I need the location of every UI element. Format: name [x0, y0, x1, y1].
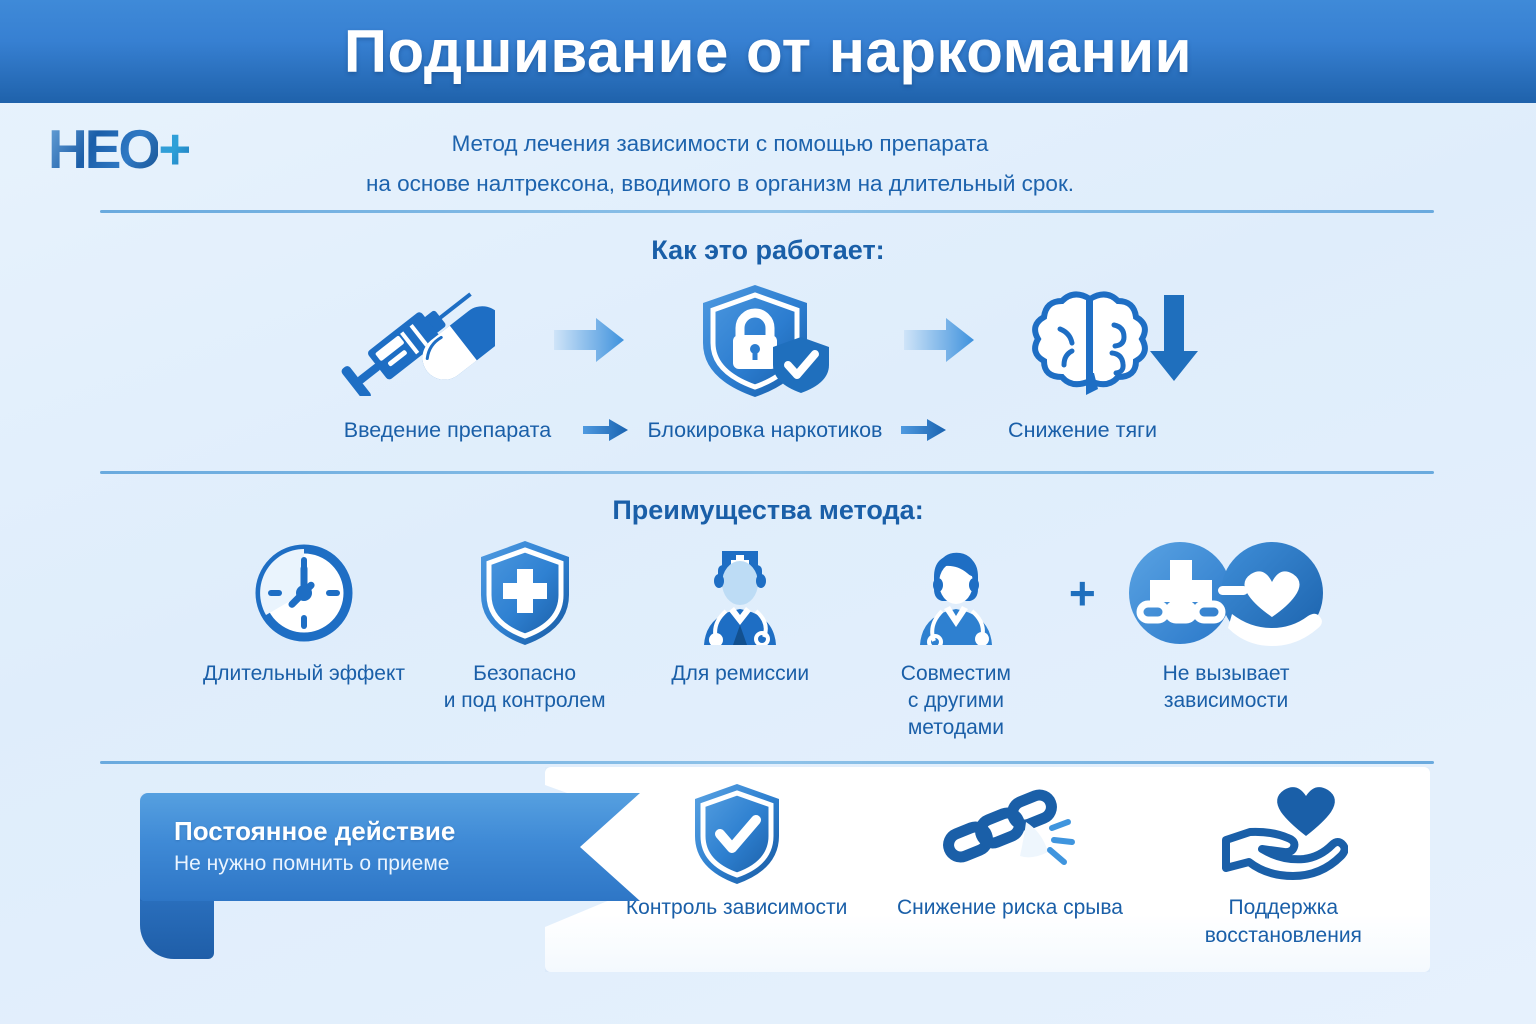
- card-item-2: Снижение риска срыва: [875, 780, 1145, 922]
- benefit-label-5: Не вызывает зависимости: [1102, 660, 1350, 714]
- nurse-icon: [688, 541, 792, 646]
- ribbon-subtitle: Не нужно помнить о приеме: [174, 849, 574, 879]
- how-it-works-icons: [330, 280, 1200, 400]
- divider-1: [100, 210, 1434, 213]
- benefit-item-1: [190, 541, 418, 646]
- logo-text-primary: HEO: [48, 117, 158, 181]
- how-it-works-labels: Введение препарата Блокировка наркотиков…: [330, 410, 1200, 450]
- card-label-3: Поддержка восстановления: [1205, 894, 1362, 950]
- flow-arrow-icon-1: [550, 315, 630, 365]
- ribbon-text-block: Постоянное действие Не нужно помнить о п…: [174, 815, 574, 879]
- infographic-page: Подшивание от наркомании HEO+ Метод лече…: [0, 0, 1536, 1024]
- shield-lock-icon: [680, 280, 850, 400]
- flow-arrow-icon-2: [900, 315, 980, 365]
- step-label-3: Снижение тяги: [965, 418, 1200, 443]
- benefit-item-4: [849, 541, 1062, 646]
- benefit-label-4: Совместим с другими методами: [849, 660, 1062, 741]
- divider-3: [100, 761, 1434, 764]
- page-header: Подшивание от наркомании: [0, 0, 1536, 103]
- card-label-1: Контроль зависимости: [626, 894, 847, 922]
- ribbon-title: Постоянное действие: [174, 815, 574, 847]
- syringe-pill-icon: [330, 280, 500, 400]
- chain-heart-circles-icon: [1118, 541, 1334, 646]
- card-item-1: Контроль зависимости: [602, 780, 872, 922]
- intro-line-2: на основе налтрексона, вводимого в орган…: [290, 164, 1150, 204]
- summary-card-items: Контроль зависимости: [600, 780, 1420, 965]
- plus-sign-text: +: [1069, 570, 1096, 616]
- how-it-works-title: Как это работает:: [0, 235, 1536, 266]
- benefits-title: Преимущества метода:: [0, 495, 1536, 526]
- brain-down-arrow-icon: [1030, 280, 1200, 400]
- card-label-2: Снижение риска срыва: [897, 894, 1123, 922]
- intro-text: Метод лечения зависимости с помощью преп…: [290, 124, 1150, 204]
- ribbon-tail: [140, 897, 214, 959]
- benefit-item-3: [631, 541, 849, 646]
- label-arrow-icon-2: [899, 419, 949, 441]
- shield-cross-icon: [475, 541, 575, 646]
- intro-line-1: Метод лечения зависимости с помощью преп…: [290, 124, 1150, 164]
- clock-icon: [252, 541, 356, 646]
- benefit-label-2: Безопасно и под контролем: [418, 660, 631, 714]
- label-arrow-icon-1: [581, 419, 631, 441]
- doctor-icon: [904, 541, 1008, 646]
- benefits-labels: Длительный эффект Безопасно и под контро…: [190, 660, 1350, 741]
- step-label-1: Введение препарата: [330, 418, 565, 443]
- page-title: Подшивание от наркомании: [344, 17, 1192, 86]
- benefits-icons: +: [190, 538, 1350, 648]
- benefit-label-3: Для ремиссии: [631, 660, 849, 687]
- plus-separator: +: [1062, 570, 1102, 616]
- permanent-action-ribbon: Постоянное действие Не нужно помнить о п…: [140, 793, 640, 915]
- divider-2: [100, 471, 1434, 474]
- card-item-3: Поддержка восстановления: [1148, 780, 1418, 950]
- shield-check-icon: [689, 780, 785, 888]
- benefit-item-2: [418, 541, 631, 646]
- step-label-2: Блокировка наркотиков: [648, 418, 883, 443]
- broken-chain-icon: [940, 780, 1080, 888]
- benefit-label-1: Длительный эффект: [190, 660, 418, 687]
- brand-logo: HEO+: [48, 118, 248, 180]
- benefit-item-5: [1102, 541, 1350, 646]
- hand-heart-icon: [1218, 780, 1348, 888]
- logo-text-plus: +: [158, 116, 189, 183]
